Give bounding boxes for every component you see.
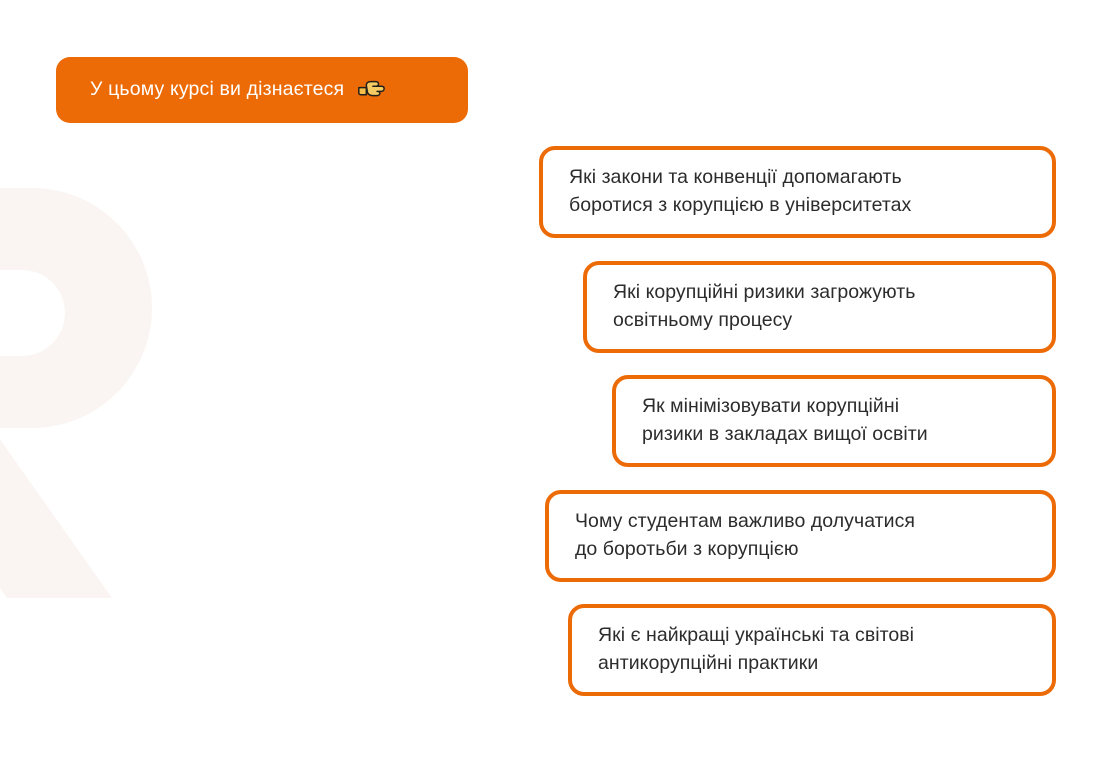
question-text: Які закони та конвенції допомагають боро… <box>543 164 933 219</box>
question-card: Які є найкращі українські та світові ант… <box>568 604 1056 696</box>
question-text: Які корупційні ризики загрожують освітнь… <box>587 279 938 334</box>
question-text: Які є найкращі українські та світові ант… <box>572 622 936 677</box>
pointing-right-hand-icon <box>356 75 386 105</box>
question-card: Які корупційні ризики загрожують освітнь… <box>583 261 1056 353</box>
slide-canvas: У цьому курсі ви дізнаєтеся Які закони т… <box>0 0 1094 763</box>
question-card: Які закони та конвенції допомагають боро… <box>539 146 1056 238</box>
page-title: У цьому курсі ви дізнаєтеся <box>56 80 344 100</box>
question-card: Чому студентам важливо долучатися до бор… <box>545 490 1056 582</box>
question-text: Як мінімізовувати корупційні ризики в за… <box>616 393 950 448</box>
question-card: Як мінімізовувати корупційні ризики в за… <box>612 375 1056 467</box>
heading-pill: У цьому курсі ви дізнаєтеся <box>56 57 468 123</box>
background-watermark-letter-r-icon <box>0 178 222 608</box>
question-text: Чому студентам важливо долучатися до бор… <box>549 508 937 563</box>
